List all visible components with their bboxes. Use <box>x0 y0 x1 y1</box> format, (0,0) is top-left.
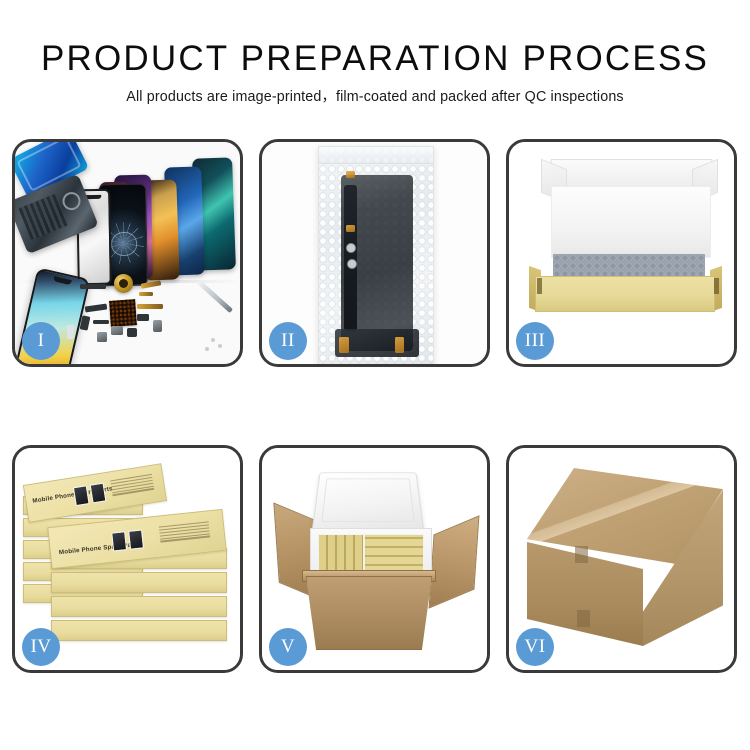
box-notch-icon <box>714 278 719 294</box>
stacked-box <box>51 620 227 641</box>
phone-thumbnail-icon <box>73 485 90 506</box>
ic-chip-grid-icon <box>109 299 137 327</box>
carton-seam-icon <box>575 546 588 563</box>
carton-flap-right-icon <box>429 515 480 608</box>
button-part-icon <box>111 326 123 335</box>
gold-tab-icon <box>346 225 355 232</box>
page-subtitle: All products are image-printed，film-coat… <box>0 87 750 107</box>
product-preparation-page: PRODUCT PREPARATION PROCESS All products… <box>0 0 750 750</box>
step-badge-1: I <box>22 322 60 360</box>
page-header: PRODUCT PREPARATION PROCESS All products… <box>0 38 750 107</box>
process-step-card-2: II <box>259 139 490 367</box>
battery-connector-icon <box>153 320 162 332</box>
carton-body-icon <box>306 576 432 650</box>
foam-sheet-icon <box>551 186 711 258</box>
page-title: PRODUCT PREPARATION PROCESS <box>0 38 750 80</box>
step-badge-4: IV <box>22 628 60 666</box>
packed-boxes-row-b <box>365 535 423 573</box>
flex-ribbon-icon <box>80 315 91 330</box>
screw-icon <box>218 344 222 348</box>
phone-thumbnail-icon <box>90 483 107 504</box>
screw-icon <box>211 338 215 342</box>
camera-module-icon <box>127 328 137 337</box>
sealed-carton-icon <box>527 468 723 654</box>
step-badge-6: VI <box>516 628 554 666</box>
stacked-box <box>51 572 227 593</box>
display-flex-cable-icon <box>344 185 357 331</box>
box-product-thumbnails <box>111 529 144 551</box>
gold-tab-icon <box>395 337 404 353</box>
step-badge-2: II <box>269 322 307 360</box>
stacked-box <box>51 596 227 617</box>
small-part-icon <box>137 314 149 321</box>
packed-boxes-row-a <box>319 535 363 573</box>
part-strip-icon <box>93 320 109 324</box>
connector-part-icon <box>85 303 108 312</box>
connector-dot-icon <box>347 259 357 269</box>
phone-thumbnail-icon <box>128 529 144 549</box>
flex-cable-icon <box>139 292 153 296</box>
connector-dot-icon <box>346 243 356 253</box>
process-step-card-5: V <box>259 445 490 673</box>
gold-tab-icon <box>346 171 355 178</box>
step-badge-3: III <box>516 322 554 360</box>
process-step-grid: I II <box>12 139 738 673</box>
flex-cable-icon <box>137 304 163 309</box>
carton-seam-icon <box>577 610 590 627</box>
process-step-card-1: I <box>12 139 243 367</box>
process-step-card-6: VI <box>506 445 737 673</box>
process-step-card-4: Mobile Phone Spare Parts Mobile Phone Sp… <box>12 445 243 673</box>
speaker-coin-part-icon <box>114 274 133 293</box>
notch-icon <box>53 276 72 285</box>
tweezers-icon <box>197 280 233 313</box>
foam-lid-icon <box>312 472 424 529</box>
bubble-wrap-bag-icon <box>318 146 434 364</box>
phone-thumbnail-icon <box>111 531 127 551</box>
box-lid-back-icon <box>547 159 716 188</box>
vibrator-part-icon <box>97 332 107 342</box>
box-front-panel-icon <box>535 276 715 312</box>
sim-tray-icon <box>67 325 74 339</box>
gold-tab-icon <box>339 337 349 353</box>
packed-boxes-group <box>318 534 424 574</box>
process-step-card-3: III <box>506 139 737 367</box>
step-badge-5: V <box>269 628 307 666</box>
box-notch-icon <box>537 278 542 294</box>
screw-icon <box>205 347 209 351</box>
part-strip-icon <box>80 284 106 289</box>
